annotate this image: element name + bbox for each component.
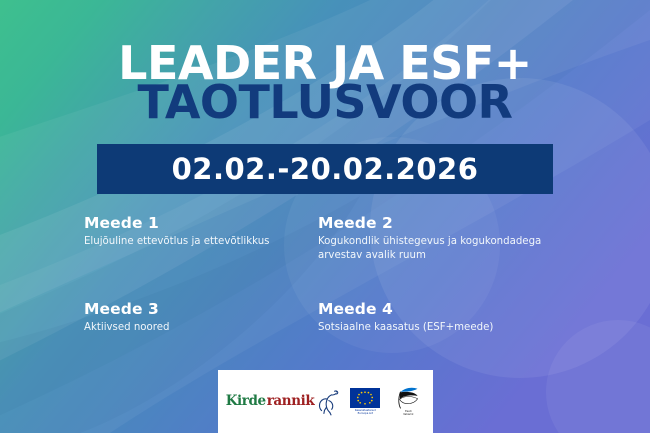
- crane-bird-icon: [315, 388, 339, 416]
- poster-canvas: LEADER JA ESF+ TAOTLUSVOOR 02.02.-20.02.…: [0, 0, 650, 433]
- date-range-band: 02.02.-20.02.2026: [97, 144, 553, 194]
- eu-flag-icon: [350, 388, 380, 408]
- estonia-caption: Eesti Vabariik: [391, 410, 425, 416]
- measure-1-subtitle: Elujõuline ettevõtlus ja ettevõtlikkus: [84, 235, 318, 249]
- kirderannik-word-red: rannik: [267, 395, 315, 409]
- headline-line-2: TAOTLUSVOOR: [0, 81, 650, 123]
- measures-row-2: Meede 3 Aktiivsed noored Meede 4 Sotsiaa…: [84, 300, 584, 335]
- measure-4-title: Meede 4: [318, 300, 552, 318]
- date-range-text: 02.02.-20.02.2026: [172, 152, 479, 186]
- measures-grid: Meede 1 Elujõuline ettevõtlus ja ettevõt…: [84, 214, 584, 335]
- measure-item-1: Meede 1 Elujõuline ettevõtlus ja ettevõt…: [84, 214, 318, 264]
- measure-4-subtitle: Sotsiaalne kaasatus (ESF+meede): [318, 321, 552, 335]
- estonia-caption-line-2: Vabariik: [391, 413, 425, 416]
- measures-row-1: Meede 1 Elujõuline ettevõtlus ja ettevõt…: [84, 214, 584, 264]
- kirderannik-logo: Kirde rannik: [226, 388, 340, 416]
- footer-logo-panel: Kirde rannik: [218, 370, 433, 433]
- measure-2-title: Meede 2: [318, 214, 552, 232]
- headline: LEADER JA ESF+ TAOTLUSVOOR: [0, 42, 650, 124]
- measure-1-title: Meede 1: [84, 214, 318, 232]
- measure-3-subtitle: Aktiivsed noored: [84, 321, 318, 335]
- eu-emblem: Kaasrahastanud Euroopa Liit: [348, 388, 382, 416]
- eu-caption: Kaasrahastanud Euroopa Liit: [348, 409, 382, 415]
- measure-3-title: Meede 3: [84, 300, 318, 318]
- measure-item-2: Meede 2 Kogukondlik ühistegevus ja koguk…: [318, 214, 552, 264]
- kirderannik-word-green: Kirde: [226, 395, 266, 409]
- measure-item-3: Meede 3 Aktiivsed noored: [84, 300, 318, 335]
- measure-2-subtitle: Kogukondlik ühistegevus ja kogukondadega…: [318, 235, 552, 264]
- estonia-emblem: Eesti Vabariik: [391, 387, 425, 416]
- eu-caption-line-2: Euroopa Liit: [348, 412, 382, 415]
- measure-item-4: Meede 4 Sotsiaalne kaasatus (ESF+meede): [318, 300, 552, 335]
- estonian-swallow-icon: [391, 387, 425, 409]
